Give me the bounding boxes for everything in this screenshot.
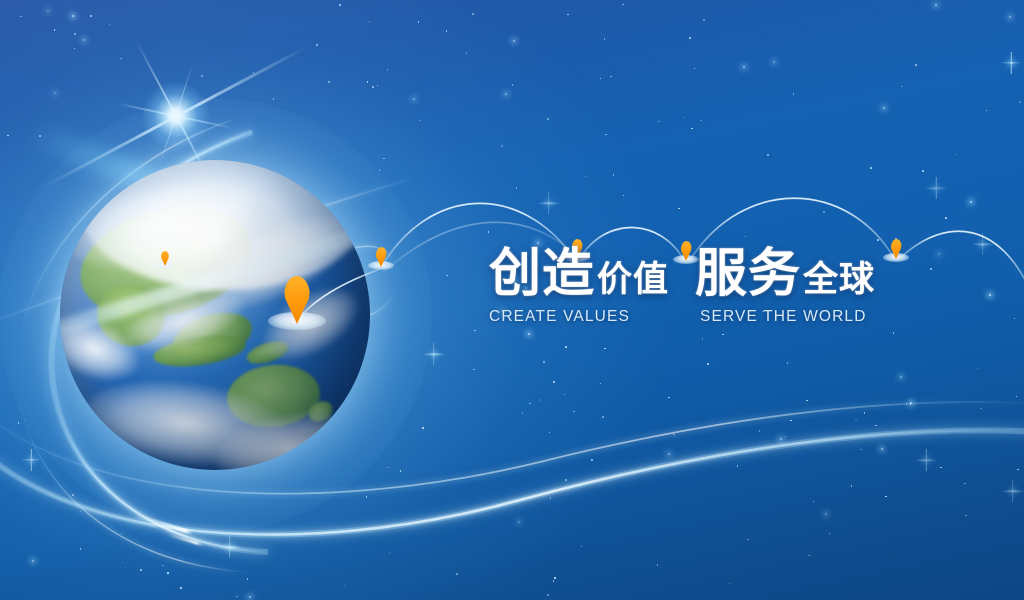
slogan-cn-serve-world-primary: 服务 xyxy=(695,248,801,301)
star-dot xyxy=(387,467,389,469)
star-dot xyxy=(910,403,912,405)
star-dot xyxy=(549,432,551,434)
star-dot xyxy=(54,29,56,31)
star-dot xyxy=(743,66,745,68)
star-dot xyxy=(539,399,541,401)
star-dot xyxy=(32,560,34,562)
star-dot xyxy=(236,596,238,598)
star-dot xyxy=(901,86,903,88)
star-dot xyxy=(851,485,853,487)
star-dot xyxy=(367,81,369,83)
star-dot xyxy=(247,578,249,580)
star-dot xyxy=(600,78,602,80)
star-dot xyxy=(413,98,415,100)
star-dot xyxy=(543,361,545,363)
star-dot xyxy=(383,158,385,160)
star-dot xyxy=(604,348,606,350)
star-dot xyxy=(1009,16,1011,18)
star-dot xyxy=(109,24,111,26)
star-dot xyxy=(80,548,82,550)
star-dot xyxy=(253,72,255,74)
star-dot xyxy=(553,381,555,383)
star-dot xyxy=(823,211,825,213)
star-dot xyxy=(684,117,686,119)
star-dot xyxy=(935,4,937,6)
star-dot xyxy=(610,76,612,78)
star-dot xyxy=(369,21,371,23)
star-dot xyxy=(90,15,92,17)
star-dot xyxy=(516,187,518,189)
star-dot xyxy=(910,402,912,404)
star-dot xyxy=(585,176,587,178)
star-dot xyxy=(825,513,827,515)
star-dot xyxy=(43,453,45,455)
star-dot xyxy=(657,564,659,566)
star-dot xyxy=(1016,396,1018,398)
star-dot xyxy=(864,412,866,414)
star-dot xyxy=(945,217,947,219)
star-dot xyxy=(870,167,872,169)
star-dot xyxy=(418,21,420,23)
star-dot xyxy=(703,19,705,21)
star-dot xyxy=(747,539,749,541)
star-dot xyxy=(180,587,182,589)
comet-streak-icon xyxy=(166,533,203,547)
star-dot xyxy=(729,583,731,585)
star-dot xyxy=(668,453,670,455)
slogan-cn-serve-world-secondary: 全球 xyxy=(803,263,875,299)
map-marker-pacific[interactable] xyxy=(268,274,326,330)
star-dot xyxy=(379,169,381,171)
star-dot xyxy=(387,69,389,71)
star-dot xyxy=(20,16,22,18)
star-dot xyxy=(689,37,691,39)
star-dot xyxy=(780,438,782,440)
star-dot xyxy=(759,430,761,432)
star-dot xyxy=(964,483,966,485)
star-dot xyxy=(249,596,251,598)
star-dot xyxy=(674,436,676,438)
star-dot xyxy=(700,120,702,122)
slogan-cn-create-values-primary: 创造 xyxy=(489,248,595,301)
star-dot xyxy=(120,58,122,60)
star-dot xyxy=(707,363,709,365)
star-dot xyxy=(125,567,127,569)
star-dot xyxy=(30,459,33,462)
star-dot xyxy=(74,48,76,50)
star-dot xyxy=(722,334,724,336)
star-dot xyxy=(581,546,583,548)
star-dot xyxy=(602,416,604,418)
star-dot xyxy=(604,38,606,40)
star-dot xyxy=(877,239,879,241)
star-dot xyxy=(591,459,593,461)
star-dot xyxy=(885,496,887,498)
star-dot xyxy=(989,294,991,296)
star-dot xyxy=(548,202,551,205)
star-dot xyxy=(529,403,531,405)
star-dot xyxy=(47,10,49,12)
star-dot xyxy=(565,479,567,481)
star-dot xyxy=(54,92,56,94)
star-dot xyxy=(925,459,928,462)
star-dot xyxy=(339,4,341,6)
star-dot xyxy=(446,30,448,32)
star-dot xyxy=(977,368,979,370)
star-dot xyxy=(121,533,123,535)
star-dot xyxy=(505,93,507,95)
star-dot xyxy=(512,84,514,86)
star-dot xyxy=(658,121,660,123)
star-dot xyxy=(501,145,503,147)
star-dot xyxy=(668,397,670,399)
star-dot xyxy=(956,154,958,156)
star-dot xyxy=(366,496,368,498)
star-dot xyxy=(875,425,877,427)
star-dot xyxy=(893,332,895,334)
star-dot xyxy=(7,135,9,137)
star-dot xyxy=(829,533,831,535)
star-dot xyxy=(702,338,704,340)
star-dot xyxy=(72,494,74,496)
star-dot xyxy=(573,411,575,413)
star-dot xyxy=(472,13,474,15)
star-dot xyxy=(344,585,346,587)
star-dot xyxy=(522,412,524,414)
slogan-en-serve-world: SERVE THE WORLD xyxy=(700,308,867,326)
star-dot xyxy=(422,427,424,429)
star-dot xyxy=(900,376,902,378)
star-dot xyxy=(793,93,795,95)
star-dot xyxy=(600,383,602,385)
star-dot xyxy=(773,61,775,63)
star-dot xyxy=(930,268,932,270)
star-dot xyxy=(940,467,942,469)
star-dot xyxy=(970,201,972,203)
star-dot xyxy=(613,174,615,176)
star-dot xyxy=(547,594,549,596)
star-dot xyxy=(377,85,379,87)
star-dot xyxy=(400,470,402,472)
star-dot xyxy=(433,353,436,356)
star-dot xyxy=(787,362,789,364)
star-dot xyxy=(80,511,82,513)
star-dot xyxy=(694,68,696,70)
star-dot xyxy=(855,419,857,421)
star-dot xyxy=(72,15,74,17)
star-dot xyxy=(790,420,792,422)
star-dot xyxy=(1019,101,1021,103)
star-dot xyxy=(623,195,625,197)
star-dot xyxy=(1010,62,1013,65)
star-dot xyxy=(1014,318,1016,320)
star-dot xyxy=(553,580,555,582)
star-dot xyxy=(745,236,747,238)
star-dot xyxy=(229,546,232,549)
star-dot xyxy=(915,64,917,66)
star-dot xyxy=(550,497,552,499)
star-dot xyxy=(806,400,808,402)
star-dot xyxy=(813,501,815,503)
star-dot xyxy=(328,81,330,83)
star-dot xyxy=(316,44,318,46)
slogan-line-english: CREATE VALUES SERVE THE WORLD xyxy=(489,308,909,326)
star-dot xyxy=(389,552,391,554)
star-dot xyxy=(986,110,988,112)
slogan-block: 创造 价值 服务 全球 CREATE VALUES SERVE THE WORL… xyxy=(489,248,909,326)
star-dot xyxy=(466,52,468,54)
star-dot xyxy=(980,408,982,410)
star-dot xyxy=(419,120,421,122)
star-dot xyxy=(18,422,20,424)
star-dot xyxy=(785,436,787,438)
star-dot xyxy=(808,555,810,557)
star-dot xyxy=(167,572,169,574)
star-dot xyxy=(860,449,862,451)
star-dot xyxy=(767,154,769,156)
star-dot xyxy=(935,187,938,190)
star-dot xyxy=(691,128,693,130)
map-marker-route-1[interactable] xyxy=(368,240,394,270)
star-dot xyxy=(39,135,41,137)
star-dot xyxy=(162,565,164,567)
star-dot xyxy=(456,573,458,575)
star-dot xyxy=(140,569,142,571)
star-dot xyxy=(567,14,569,16)
star-dot xyxy=(372,86,374,88)
star-dot xyxy=(564,394,566,396)
star-dot xyxy=(273,98,275,100)
star-dot xyxy=(74,33,76,35)
star-dot xyxy=(513,40,515,42)
star-dot xyxy=(1017,469,1019,471)
star-dot xyxy=(673,434,675,436)
star-dot xyxy=(922,170,924,172)
slogan-en-create-values: CREATE VALUES xyxy=(489,308,700,326)
star-dot xyxy=(883,107,885,109)
star-dot xyxy=(518,521,520,523)
star-dot xyxy=(737,465,739,467)
star-dot xyxy=(906,403,908,405)
star-dot xyxy=(938,253,940,255)
star-dot xyxy=(1012,490,1015,493)
star-dot xyxy=(622,4,624,6)
slogan-line-chinese: 创造 价值 服务 全球 xyxy=(489,248,909,301)
star-dot xyxy=(446,275,448,277)
slogan-cn-create-values-secondary: 价值 xyxy=(597,263,669,299)
star-dot xyxy=(565,346,567,348)
star-dot xyxy=(83,39,85,41)
star-dot xyxy=(965,515,967,517)
star-dot xyxy=(678,208,680,210)
star-dot xyxy=(528,333,530,335)
star-dot xyxy=(981,243,984,246)
star-dot xyxy=(474,330,476,332)
star-dot xyxy=(881,448,883,450)
star-dot xyxy=(617,229,619,231)
map-marker-china[interactable] xyxy=(157,250,173,268)
star-dot xyxy=(473,369,475,371)
star-dot xyxy=(547,118,549,120)
hero-banner: 创造 价值 服务 全球 CREATE VALUES SERVE THE WORL… xyxy=(0,0,1024,600)
star-dot xyxy=(554,577,556,579)
star-dot xyxy=(201,75,203,77)
star-dot xyxy=(488,231,490,233)
star-dot xyxy=(605,134,607,136)
